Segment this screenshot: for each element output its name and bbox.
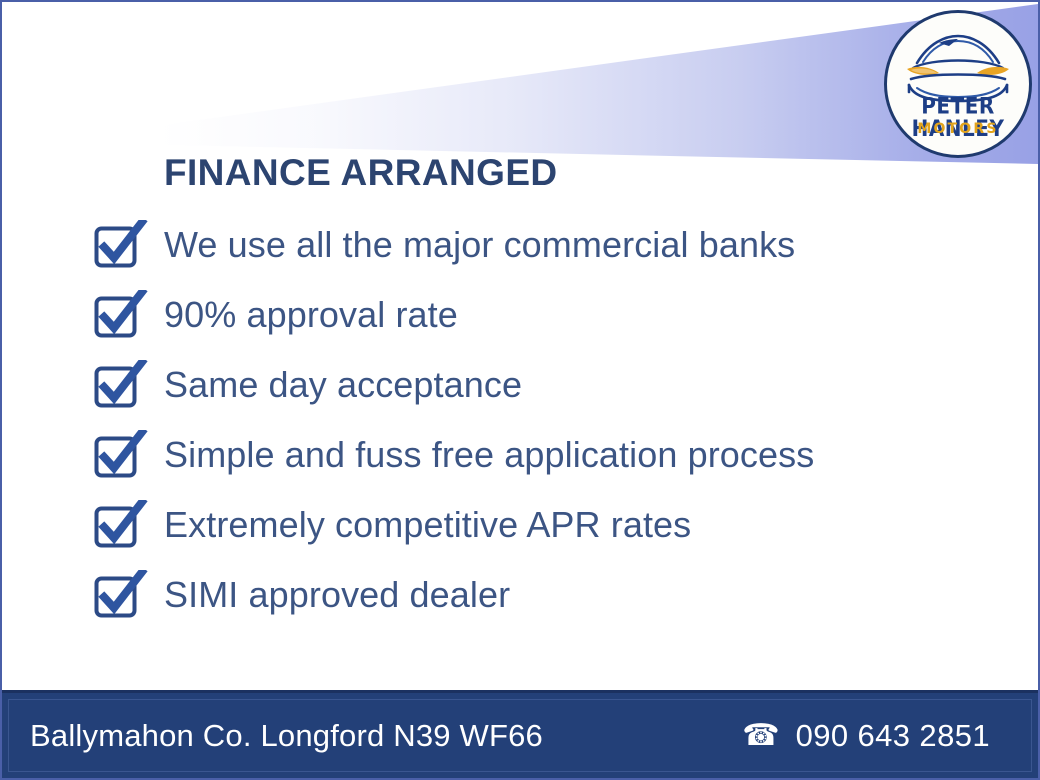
list-item: Simple and fuss free application process	[92, 420, 992, 490]
list-item: Same day acceptance	[92, 350, 992, 420]
list-item: Extremely competitive APR rates	[92, 490, 992, 560]
list-item-label: We use all the major commercial banks	[148, 224, 795, 266]
list-item: 90% approval rate	[92, 280, 992, 350]
phone-contact[interactable]: ☎ 090 643 2851	[742, 718, 1038, 754]
checked-checkbox-icon	[92, 290, 148, 340]
phone-number: 090 643 2851	[796, 718, 990, 754]
finance-benefits-list: We use all the major commercial banks 90…	[92, 210, 992, 630]
contact-footer-bar: Ballymahon Co. Longford N39 WF66 ☎ 090 6…	[2, 690, 1038, 778]
peter-hanley-motors-logo[interactable]: PETER HANLEY MOTORS	[884, 10, 1032, 158]
finance-arranged-poster: PETER HANLEY MOTORS FINANCE ARRANGED We …	[0, 0, 1040, 780]
list-item-label: Extremely competitive APR rates	[148, 504, 691, 546]
checked-checkbox-icon	[92, 220, 148, 270]
list-item-label: Simple and fuss free application process	[148, 434, 814, 476]
address-text: Ballymahon Co. Longford N39 WF66	[2, 718, 543, 754]
list-item: SIMI approved dealer	[92, 560, 992, 630]
page-title: FINANCE ARRANGED	[164, 152, 558, 194]
logo-disc: PETER HANLEY MOTORS	[884, 10, 1032, 158]
checked-checkbox-icon	[92, 430, 148, 480]
list-item: We use all the major commercial banks	[92, 210, 992, 280]
checked-checkbox-icon	[92, 360, 148, 410]
list-item-label: SIMI approved dealer	[148, 574, 510, 616]
checked-checkbox-icon	[92, 500, 148, 550]
list-item-label: 90% approval rate	[148, 294, 458, 336]
logo-submark: MOTORS	[887, 122, 1029, 136]
list-item-label: Same day acceptance	[148, 364, 522, 406]
checked-checkbox-icon	[92, 570, 148, 620]
telephone-icon: ☎	[742, 721, 779, 751]
